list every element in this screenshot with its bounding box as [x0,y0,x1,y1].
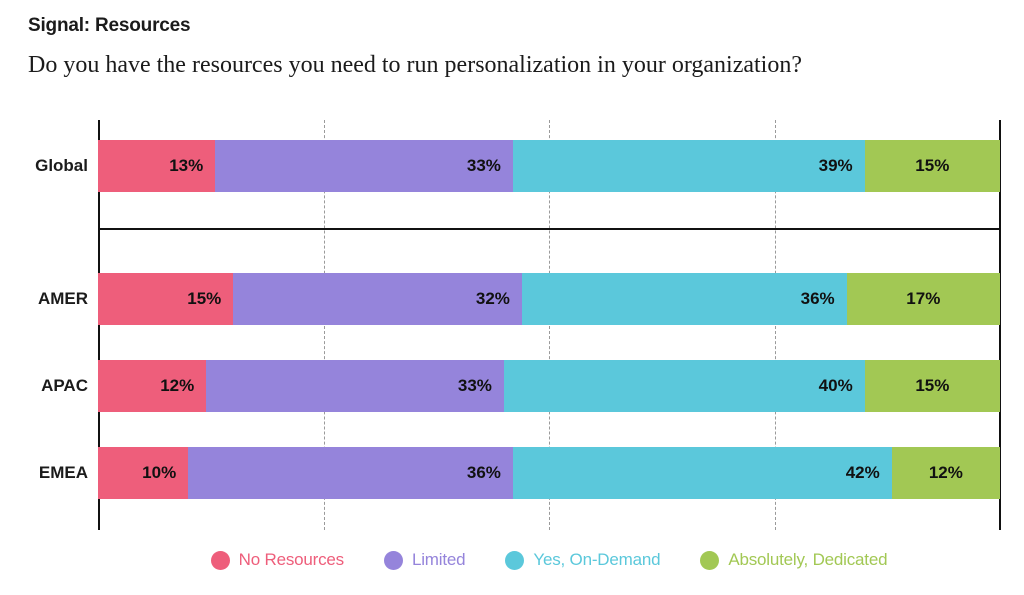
legend-swatch-circle-icon [211,551,230,570]
bar-category-label: APAC [41,360,98,412]
bar-row: AMER15%32%36%17% [98,273,1000,325]
bar-segment[interactable]: 33% [215,140,513,192]
bar-segment[interactable]: 12% [892,447,1000,499]
bar-segment[interactable]: 12% [98,360,206,412]
bar-row: EMEA10%36%42%12% [98,447,1000,499]
legend-label: No Resources [239,550,344,570]
bar-category-label: AMER [38,273,98,325]
legend-label: Limited [412,550,465,570]
bar-segment[interactable]: 33% [206,360,504,412]
legend-item[interactable]: Limited [384,550,465,570]
legend-item[interactable]: No Resources [211,550,344,570]
bar-category-label: Global [35,140,98,192]
bar-track: 10%36%42%12% [98,447,1000,499]
bar-row: Global13%33%39%15% [98,140,1000,192]
bar-segment[interactable]: 17% [847,273,1000,325]
bar-segment[interactable]: 40% [504,360,865,412]
bar-segment[interactable]: 15% [98,273,233,325]
bar-row: APAC12%33%40%15% [98,360,1000,412]
bar-track: 15%32%36%17% [98,273,1000,325]
bar-track: 12%33%40%15% [98,360,1000,412]
bar-segment[interactable]: 36% [188,447,513,499]
group-separator [98,228,1000,230]
bar-segment[interactable]: 15% [865,140,1000,192]
bar-track: 13%33%39%15% [98,140,1000,192]
legend-swatch-circle-icon [505,551,524,570]
legend-swatch-circle-icon [384,551,403,570]
legend-label: Yes, On-Demand [533,550,660,570]
bar-segment[interactable]: 13% [98,140,215,192]
bar-segment[interactable]: 36% [522,273,847,325]
bar-segment[interactable]: 42% [513,447,892,499]
bar-segment[interactable]: 15% [865,360,1000,412]
legend-item[interactable]: Yes, On-Demand [505,550,660,570]
legend-item[interactable]: Absolutely, Dedicated [700,550,887,570]
stacked-bar-chart: Global13%33%39%15%AMER15%32%36%17%APAC12… [0,0,1024,595]
bar-segment[interactable]: 39% [513,140,865,192]
bar-segment[interactable]: 10% [98,447,188,499]
chart-legend: No ResourcesLimitedYes, On-DemandAbsolut… [98,540,1000,580]
legend-label: Absolutely, Dedicated [728,550,887,570]
bar-segment[interactable]: 32% [233,273,522,325]
legend-swatch-circle-icon [700,551,719,570]
bar-category-label: EMEA [39,447,98,499]
